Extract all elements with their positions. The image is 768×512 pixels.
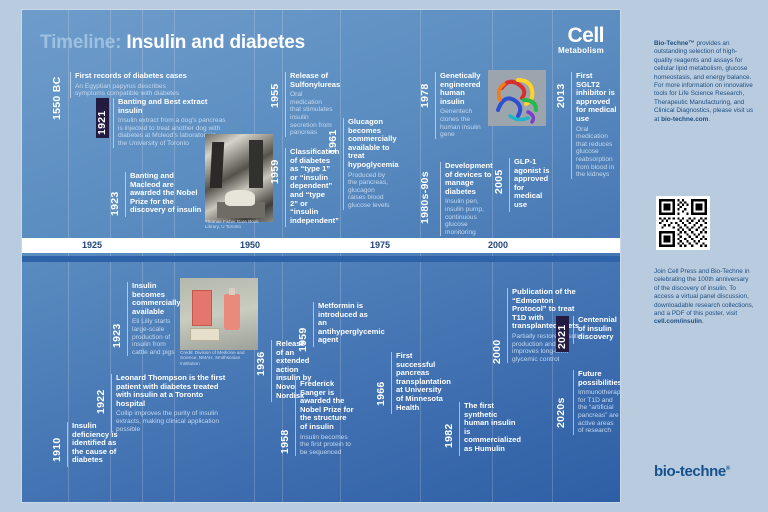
insulin-vial-photo	[180, 278, 258, 350]
event-body: Insulin becomes the first protein to be …	[300, 434, 354, 457]
promo-paragraph: Bio-Techne™ provides an outstanding sele…	[654, 40, 754, 124]
event-heading: Insulin becomes commercially available	[132, 282, 178, 316]
timeline-axis-shadow	[22, 256, 620, 262]
timeline-event: 2021 Centennial of insulin discovery	[556, 316, 618, 360]
event-year: 1961	[328, 118, 339, 154]
axis-tick-label: 1950	[240, 238, 260, 253]
photo-package	[192, 290, 212, 326]
timeline-event: 1980s-90s Development of devices to mana…	[420, 162, 492, 238]
event-year: 1936	[256, 340, 267, 376]
photo-dog	[225, 190, 255, 206]
promo-text: provides an outstanding selection of hig…	[654, 40, 753, 123]
event-year: 1966	[376, 370, 387, 406]
registered-mark: ®	[726, 466, 730, 472]
event-heading: First SGLT2 inhibitor is approved for me…	[576, 72, 618, 124]
event-heading: Banting and Best extract insulin	[118, 98, 226, 115]
timeline-event: 1978 Genetically engineered human insuli…	[420, 72, 486, 158]
event-body: Insulin pen, insulin pump, continuous gl…	[445, 198, 492, 236]
photo-caption: Thomas Fisher Rare Book Library, U Toron…	[205, 219, 273, 230]
timeline-event: 1982 The first synthetic human insulin i…	[444, 402, 518, 462]
event-body: Eli Lilly starts large-scale production …	[132, 318, 178, 356]
event-heading: Future possibilities	[578, 370, 620, 387]
event-year: 1922	[96, 374, 107, 414]
poster-canvas: Timeline: Insulin and diabetes Cell Meta…	[0, 0, 768, 512]
title-prefix: Timeline:	[40, 32, 121, 53]
event-year-badge: 1921	[96, 98, 109, 138]
event-heading: Classification of diabetes as “type 1” o…	[290, 148, 332, 225]
photo-caption: Credit: Division of Medicine and Science…	[180, 350, 256, 366]
qr-code-pattern	[659, 199, 707, 247]
sidebar-promo-top: Bio-Techne™ provides an outstanding sele…	[654, 40, 754, 124]
event-year: 2000	[492, 324, 503, 364]
event-year-badge: 2021	[556, 316, 569, 352]
timeline-panel: Timeline: Insulin and diabetes Cell Meta…	[22, 10, 620, 502]
event-heading: Leonard Thompson is the first patient wi…	[116, 374, 232, 408]
event-year: 1959	[270, 148, 281, 184]
promo-text-2: Join Cell Press and Bio-Techne in celebr…	[654, 268, 753, 317]
axis-tick-label: 1925	[82, 238, 102, 253]
event-year: 2005	[494, 158, 505, 194]
title-main: Insulin and diabetes	[126, 32, 305, 53]
photo-label	[190, 328, 220, 341]
timeline-event: 1959 Classification of diabetes as “type…	[270, 148, 332, 238]
sidebar-promo-bottom: Join Cell Press and Bio-Techne in celebr…	[654, 268, 754, 327]
event-year: 1958	[280, 418, 291, 454]
timeline-event: 1923 Insulin becomes commercially availa…	[112, 282, 178, 364]
event-year: 1550 BC	[52, 72, 63, 120]
event-year: 2020s	[556, 384, 567, 428]
photo-figure	[249, 140, 263, 188]
brand-wordmark: bio-techne	[654, 463, 726, 480]
promo-link[interactable]: bio-techne.com	[661, 116, 708, 123]
event-body: Produced by the pancreas, glucagon raise…	[348, 172, 394, 210]
event-body: Genentech clones the human insulin gene	[440, 108, 486, 138]
event-heading: Release of Sulfonylureas	[290, 72, 334, 89]
promo-paragraph-2: Join Cell Press and Bio-Techne in celebr…	[654, 268, 754, 327]
event-year: 1982	[444, 412, 455, 448]
event-heading: Metformin is introduced as an antihyperg…	[318, 302, 374, 345]
sidebar: Bio-Techne™ provides an outstanding sele…	[634, 10, 756, 502]
banting-best-photo	[205, 134, 273, 222]
event-year: 1980s-90s	[420, 162, 431, 224]
event-body: Collip improves the purity of insulin ex…	[116, 410, 232, 433]
event-heading: Centennial of insulin discovery	[578, 316, 618, 342]
timeline-event: 1959 Metformin is introduced as an antih…	[298, 302, 374, 358]
event-year: 1978	[420, 72, 431, 108]
event-heading: First records of diabetes cases	[75, 72, 192, 81]
timeline-event: 2005 GLP-1 agonist is approved for medic…	[494, 158, 550, 230]
event-body: Oral medication that reduces glucose rea…	[576, 126, 618, 179]
timeline-event: 1966 First successful pancreas transplan…	[376, 352, 446, 414]
qr-svg	[659, 199, 707, 247]
timeline-event: 1958 Frederick Sanger is awarded the Nob…	[280, 380, 354, 458]
qr-code[interactable]	[656, 196, 710, 250]
event-heading: The first synthetic human insulin is com…	[464, 402, 518, 454]
event-year: 1923	[110, 172, 121, 216]
event-year: 2013	[556, 72, 567, 108]
axis-tick-label: 1975	[370, 238, 390, 253]
timeline-event: 1922 Leonard Thompson is the first patie…	[96, 374, 232, 440]
event-year: 1959	[298, 316, 309, 352]
event-heading: GLP-1 agonist is approved for medical us…	[514, 158, 550, 210]
event-year: 1923	[112, 312, 123, 348]
journal-subtitle: Metabolism	[558, 46, 604, 55]
journal-name: Cell	[558, 26, 604, 46]
timeline-event: 1923 Banting and Macleod are awarded the…	[110, 172, 202, 226]
event-heading: First successful pancreas transplantatio…	[396, 352, 446, 412]
event-heading: Glucagon becomes commercially available …	[348, 118, 394, 170]
journal-logo: Cell Metabolism	[558, 26, 604, 55]
photo-bottle	[224, 294, 240, 330]
protein-ribbon-icon	[488, 70, 546, 126]
event-body: Immunotherapy for T1D and the “artificia…	[578, 389, 620, 435]
timeline-event: 2020s Future possibilities Immunotherapy…	[556, 370, 620, 438]
event-heading: Development of devices to manage diabete…	[445, 162, 492, 196]
photo-figure	[210, 142, 224, 188]
axis-centerline	[22, 246, 620, 247]
event-heading: Genetically engineered human insulin	[440, 72, 486, 106]
timeline-event: 1961 Glucagon becomes commercially avail…	[328, 118, 394, 236]
axis-tick-label: 2000	[488, 238, 508, 253]
event-year: 1955	[270, 72, 281, 108]
event-year: 1910	[52, 422, 63, 462]
page-title: Timeline: Insulin and diabetes	[40, 32, 305, 54]
promo-link-2[interactable]: cell.com/insulin	[654, 318, 702, 325]
timeline-event: 2013 First SGLT2 inhibitor is approved f…	[556, 72, 618, 182]
event-body: An Egyptian papyrus describes symptoms c…	[75, 83, 192, 98]
brand-name-inline: Bio-Techne™	[654, 40, 695, 47]
event-heading: Frederick Sanger is awarded the Nobel Pr…	[300, 380, 354, 432]
bio-techne-logo: bio-techne®	[654, 463, 730, 480]
insulin-protein-image	[488, 70, 546, 126]
event-heading: Banting and Macleod are awarded the Nobe…	[130, 172, 202, 215]
